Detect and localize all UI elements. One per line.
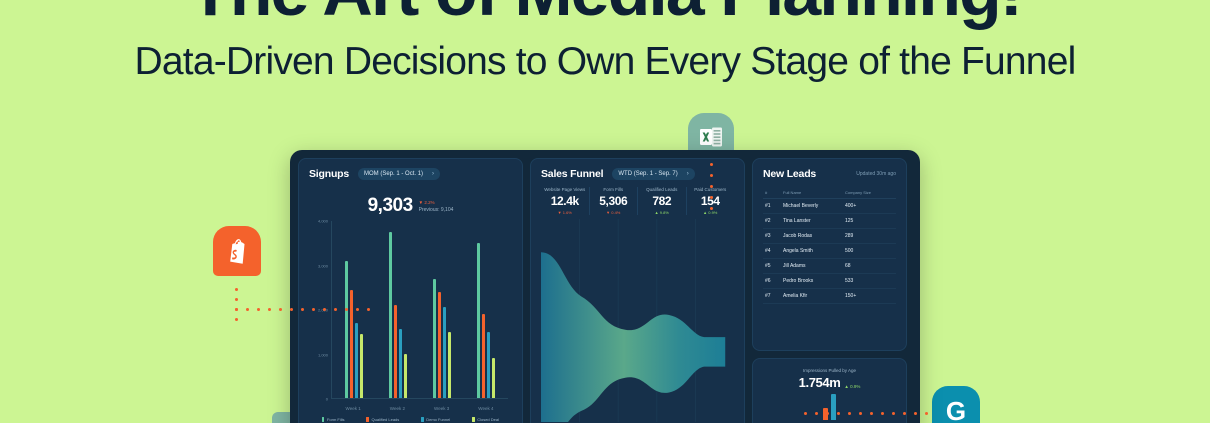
legend-label: Demo Funnel <box>426 417 450 422</box>
sales-funnel-range-label: WTD (Sep. 1 - Sep. 7) <box>618 171 677 177</box>
table-cell: #7 <box>763 289 781 304</box>
kpi-tile: Website Page Views12.4k▼ 1.6% <box>541 187 590 215</box>
connector-dot <box>268 308 271 311</box>
y-tick-label: 4,000 <box>318 219 328 224</box>
shopify-bag-glyph <box>226 238 248 264</box>
bar <box>394 305 398 398</box>
google-g-glyph: G <box>946 398 966 423</box>
signups-column: Signups MOM (Sep. 1 - Oct. 1) › 9,303 ▼ … <box>298 158 523 423</box>
legend-swatch <box>322 417 325 422</box>
new-leads-header-row: #Full NameCompany Size <box>763 187 896 199</box>
bar <box>438 292 442 398</box>
kpi-tile: Qualified Leads782▲ 9.8% <box>638 187 687 215</box>
table-cell: Jacob Rodas <box>781 229 843 244</box>
signups-legend: Form FillsQualified LeadsDemo FunnelClos… <box>309 415 512 422</box>
bar-group <box>477 221 496 398</box>
bar <box>831 394 836 420</box>
kpi-value: 12.4k <box>543 194 587 208</box>
table-cell: Angela Smith <box>781 244 843 259</box>
kpi-value: 782 <box>640 194 684 208</box>
bar <box>355 323 359 398</box>
legend-swatch <box>366 417 369 422</box>
impressions-bar-chart <box>763 394 896 420</box>
legend-label: Closed Deal <box>477 417 499 422</box>
table-cell: Tina Lanster <box>781 214 843 229</box>
bar <box>443 307 447 398</box>
kpi-delta: ▼ 0.4% <box>592 210 636 215</box>
bar <box>350 290 354 398</box>
table-cell: 125 <box>843 214 896 229</box>
table-row[interactable]: #7Amelia Kfir150+ <box>763 289 896 304</box>
legend-item[interactable]: Demo Funnel <box>421 417 450 422</box>
x-tick-label: Week 3 <box>434 406 449 411</box>
connector-dot <box>235 318 238 321</box>
new-leads-title: New Leads <box>763 168 816 180</box>
signups-metric: 9,303 ▼ 2.2% Previous: 9,104 <box>309 196 512 215</box>
table-cell: 400+ <box>843 199 896 214</box>
table-cell: Amelia Kfir <box>781 289 843 304</box>
connector-dot <box>235 298 238 301</box>
legend-item[interactable]: Qualified Leads <box>366 417 399 422</box>
table-row[interactable]: #6Pedro Brooks533 <box>763 274 896 289</box>
excel-sheet-glyph <box>699 125 723 149</box>
page-header: The Art of Media Planning! Data-Driven D… <box>0 0 1210 84</box>
table-cell: #2 <box>763 214 781 229</box>
connector-dot <box>279 308 282 311</box>
page-title: The Art of Media Planning! <box>0 0 1210 26</box>
table-cell: 68 <box>843 259 896 274</box>
table-cell: Pedro Brooks <box>781 274 843 289</box>
table-row[interactable]: #4Angela Smith500 <box>763 244 896 259</box>
column-header: Company Size <box>843 187 896 199</box>
table-cell: #1 <box>763 199 781 214</box>
table-cell: 500 <box>843 244 896 259</box>
bar <box>345 261 349 398</box>
bar <box>399 329 403 398</box>
legend-item[interactable]: Form Fills <box>322 417 345 422</box>
sales-funnel-title: Sales Funnel <box>541 168 603 180</box>
signups-delta: ▼ 2.2% <box>419 200 454 205</box>
y-tick-label: 3,000 <box>318 263 328 268</box>
signups-card: Signups MOM (Sep. 1 - Oct. 1) › 9,303 ▼ … <box>298 158 523 423</box>
connector-dot <box>235 308 238 311</box>
kpi-label: Qualified Leads <box>640 187 684 192</box>
table-cell: #5 <box>763 259 781 274</box>
legend-item[interactable]: Closed Deal <box>472 417 499 422</box>
new-leads-table: #Full NameCompany Size #1Michael Beverly… <box>763 187 896 304</box>
signups-range-label: MOM (Sep. 1 - Oct. 1) <box>364 171 423 177</box>
table-cell: Jill Adams <box>781 259 843 274</box>
bar <box>487 332 491 398</box>
column-header: Full Name <box>781 187 843 199</box>
kpi-value: 5,306 <box>592 194 636 208</box>
table-row[interactable]: #1Michael Beverly400+ <box>763 199 896 214</box>
dashboard-panel: Signups MOM (Sep. 1 - Oct. 1) › 9,303 ▼ … <box>290 150 920 423</box>
x-tick-label: Week 2 <box>390 406 405 411</box>
new-leads-body: #1Michael Beverly400+#2Tina Lanster125#3… <box>763 199 896 304</box>
bar <box>448 332 452 398</box>
x-tick-label: Week 4 <box>478 406 493 411</box>
table-cell: #3 <box>763 229 781 244</box>
table-row[interactable]: #5Jill Adams68 <box>763 259 896 274</box>
funnel-shape <box>541 219 734 422</box>
x-tick-label: Week 1 <box>346 406 361 411</box>
bar <box>389 232 393 398</box>
chevron-right-icon: › <box>432 171 434 177</box>
kpi-label: Website Page Views <box>543 187 587 192</box>
table-cell: #4 <box>763 244 781 259</box>
bar <box>482 314 486 398</box>
connector-dot <box>246 308 249 311</box>
impressions-delta: ▲ 0.9% <box>844 384 860 389</box>
signups-previous: Previous: 9,104 <box>419 207 454 213</box>
bar-group <box>433 221 452 398</box>
table-cell: #6 <box>763 274 781 289</box>
table-cell: Michael Beverly <box>781 199 843 214</box>
connector-dot <box>235 288 238 291</box>
sales-funnel-visualization <box>541 219 734 422</box>
table-cell: 150+ <box>843 289 896 304</box>
kpi-tile: Paid Customers154▲ 0.9% <box>687 187 735 215</box>
kpi-tile: Form Fills5,306▼ 0.4% <box>590 187 639 215</box>
kpi-label: Form Fills <box>592 187 636 192</box>
shopify-icon[interactable] <box>213 226 261 276</box>
kpi-delta: ▲ 0.9% <box>689 210 733 215</box>
signups-bar-chart: 4,0003,0002,0001,0000 Week 1Week 2Week 3… <box>309 221 512 415</box>
impressions-value: 1.754m <box>799 376 841 389</box>
table-row[interactable]: #3Jacob Rodas289 <box>763 229 896 244</box>
legend-swatch <box>472 417 475 422</box>
bar <box>360 334 364 398</box>
y-tick-label: 0 <box>326 397 328 402</box>
impressions-metric: 1.754m ▲ 0.9% <box>763 376 896 389</box>
sales-funnel-kpi-row: Website Page Views12.4k▼ 1.6%Form Fills5… <box>541 187 734 215</box>
signups-range-selector[interactable]: MOM (Sep. 1 - Oct. 1) › <box>358 168 440 180</box>
bar <box>433 279 437 398</box>
new-leads-card: New Leads Updated 30m ago #Full NameComp… <box>752 158 907 351</box>
new-leads-header: New Leads Updated 30m ago <box>763 168 896 180</box>
legend-swatch <box>421 417 424 422</box>
kpi-delta: ▲ 9.8% <box>640 210 684 215</box>
sales-funnel-header: Sales Funnel WTD (Sep. 1 - Sep. 7) › <box>541 168 734 180</box>
signups-header: Signups MOM (Sep. 1 - Oct. 1) › <box>309 168 512 180</box>
table-cell: 289 <box>843 229 896 244</box>
page-subtitle: Data-Driven Decisions to Own Every Stage… <box>0 40 1210 84</box>
y-tick-label: 1,000 <box>318 352 328 357</box>
column-header: # <box>763 187 781 199</box>
right-column: New Leads Updated 30m ago #Full NameComp… <box>752 158 907 423</box>
google-icon[interactable]: G <box>932 386 980 423</box>
signups-title: Signups <box>309 168 349 180</box>
sales-funnel-range-selector[interactable]: WTD (Sep. 1 - Sep. 7) › <box>612 168 694 180</box>
table-cell: 533 <box>843 274 896 289</box>
signups-x-axis: Week 1Week 2Week 3Week 4 <box>331 406 508 411</box>
new-leads-updated: Updated 30m ago <box>856 171 896 177</box>
connector-dot <box>925 412 928 415</box>
bar-group <box>389 221 408 398</box>
chevron-right-icon: › <box>687 171 689 177</box>
bar <box>492 358 496 398</box>
signups-value: 9,303 <box>368 196 413 215</box>
connector-dot <box>257 308 260 311</box>
impressions-label: Impressions Pulled by Age <box>763 368 896 373</box>
bar <box>404 354 408 398</box>
kpi-delta: ▼ 1.6% <box>543 210 587 215</box>
legend-label: Form Fills <box>327 417 345 422</box>
table-row[interactable]: #2Tina Lanster125 <box>763 214 896 229</box>
legend-label: Qualified Leads <box>371 417 399 422</box>
funnel-flow-path <box>541 252 725 422</box>
bar <box>477 243 481 398</box>
signups-metric-side: ▼ 2.2% Previous: 9,104 <box>419 200 454 215</box>
